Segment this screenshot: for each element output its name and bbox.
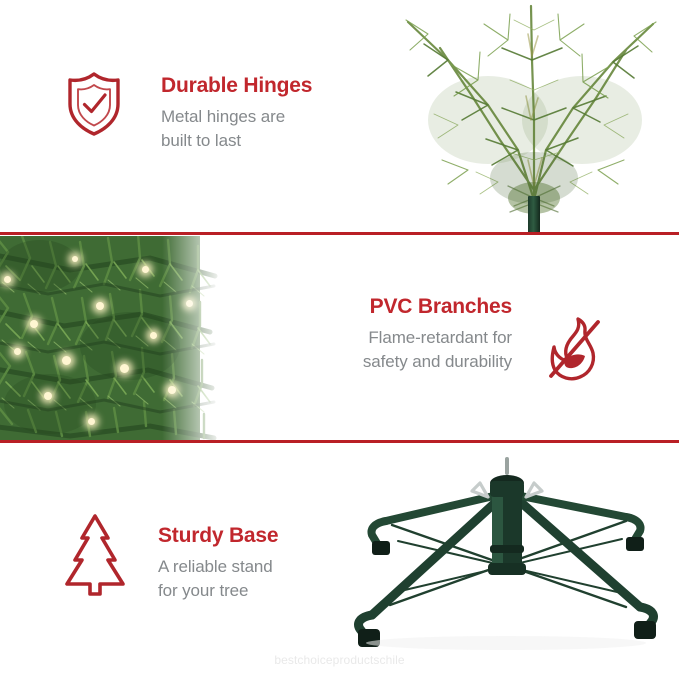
shield-check-icon (66, 71, 122, 142)
tree-light-bulb (72, 256, 78, 262)
feature-heading: Sturdy Base (158, 523, 278, 548)
feature-text-durable-hinges: Durable Hinges Metal hinges are built to… (161, 73, 312, 153)
tree-light-bulb (44, 392, 52, 400)
no-flame-icon (541, 314, 607, 389)
tree-pole (528, 196, 540, 233)
tree-light-bulb (88, 418, 95, 425)
feature-subtitle: Metal hinges are built to last (161, 105, 312, 153)
branches-illustration (368, 0, 679, 233)
artificial-tree-branches-photo (368, 0, 679, 233)
panel-divider-top (0, 232, 679, 235)
feature-text-pvc-branches: PVC Branches Flame-retardant for safety … (363, 294, 512, 374)
metal-tree-stand-photo (330, 455, 679, 651)
watermark-text: bestchoiceproductschile (0, 653, 679, 667)
tree-light-bulb (62, 356, 71, 365)
tree-light-bulb (96, 302, 104, 310)
product-feature-infographic: Durable Hinges Metal hinges are built to… (0, 0, 679, 679)
tree-light-bulb (30, 320, 38, 328)
tree-stand-illustration (330, 455, 679, 651)
feature-heading: PVC Branches (363, 294, 512, 319)
christmas-tree-icon (62, 512, 128, 603)
tree-light-bulb (4, 276, 11, 283)
feature-text-sturdy-base: Sturdy Base A reliable stand for your tr… (158, 523, 278, 603)
feature-panel-durable-hinges: Durable Hinges Metal hinges are built to… (0, 0, 679, 233)
tree-light-bulb (142, 266, 149, 273)
tree-light-bulb (14, 348, 21, 355)
feature-subtitle: Flame-retardant for safety and durabilit… (363, 326, 512, 374)
feature-subtitle: A reliable stand for your tree (158, 555, 278, 603)
lit-tree-branches-photo (0, 236, 232, 440)
tree-light-bulb (150, 332, 157, 339)
feature-heading: Durable Hinges (161, 73, 312, 98)
photo-edge-fade (162, 236, 232, 440)
tree-light-bulb (120, 364, 129, 373)
